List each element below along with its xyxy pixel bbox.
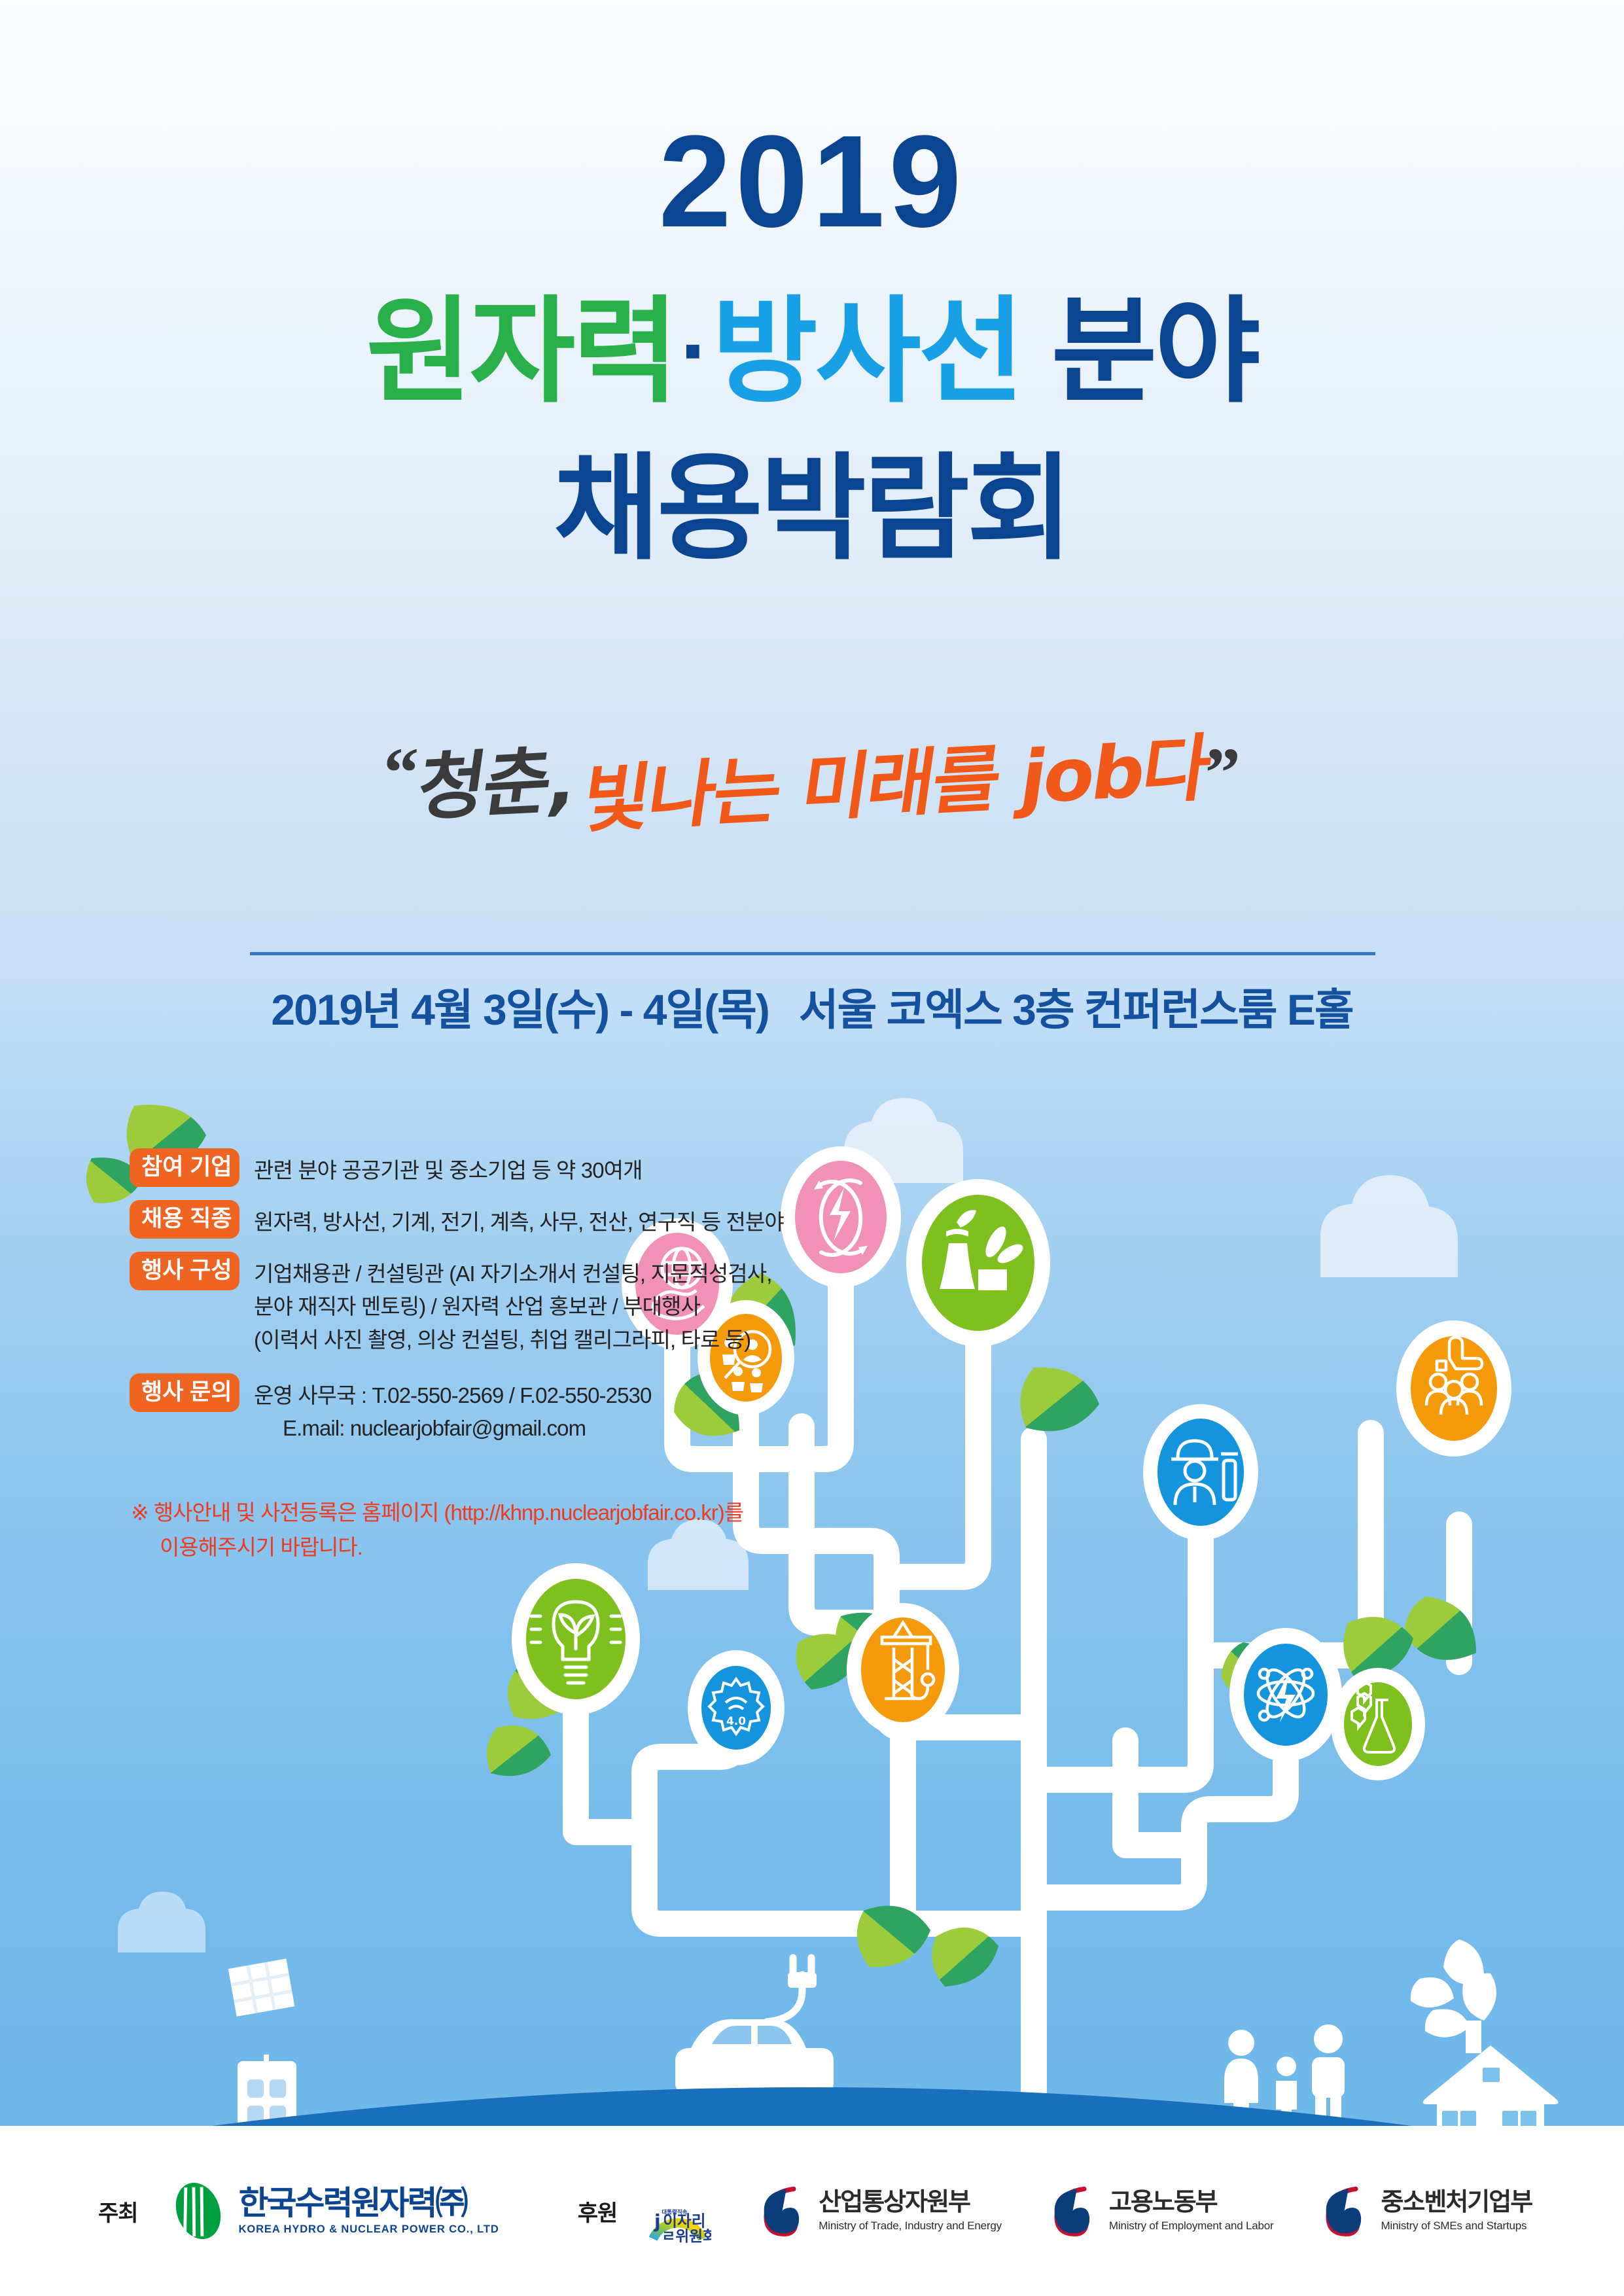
ev-plug-body: [788, 1972, 817, 1988]
motie-name-en: Ministry of Trade, Industry and Energy: [819, 2219, 1002, 2233]
sponsor-logo-moel: 고용노동부 Ministry of Employment and Labor: [1048, 2185, 1274, 2237]
cloud-icon: [1320, 1175, 1458, 1277]
note-line-1: ※ 행사안내 및 사전등록은 홈페이지 (http://khnp.nuclear…: [131, 1500, 743, 1525]
host-label: 주최: [98, 2195, 138, 2227]
icon-node-industry-4-0: 4.0: [688, 1650, 785, 1765]
cloud-icon: [118, 1892, 205, 1952]
mss-name-ko: 중소벤처기업부: [1381, 2190, 1532, 2215]
icon-node-crane: [847, 1603, 959, 1737]
svg-text:ㄹ위원회: ㄹ위원회: [662, 2228, 712, 2245]
info-row-contact: 행사 문의 운영 사무국 : T.02-550-2569 / F.02-550-…: [130, 1373, 954, 1445]
host-name-en: KOREA HYDRO & NUCLEAR POWER CO., LTD: [239, 2223, 499, 2236]
info-badge-contact: 행사 문의: [130, 1373, 239, 1412]
moel-name-en: Ministry of Employment and Labor: [1109, 2219, 1274, 2233]
icon-node-eco-lightbulb: [512, 1563, 640, 1715]
info-badge-participants: 참여 기업: [130, 1148, 239, 1187]
icon-node-flask: [1331, 1668, 1425, 1780]
sponsor-logo-motie: 산업통상자원부 Ministry of Trade, Industry and …: [757, 2185, 1002, 2237]
korea-gov-emblem-icon: [1319, 2185, 1371, 2237]
info-text-contact: 운영 사무국 : T.02-550-2569 / F.02-550-2530 E…: [254, 1373, 651, 1445]
host-logo-khnp: 한국수력원자력㈜ KOREA HYDRO & NUCLEAR POWER CO.…: [167, 2180, 499, 2242]
moel-name-ko: 고용노동부: [1109, 2190, 1274, 2215]
svg-text:4.0: 4.0: [726, 1715, 746, 1728]
info-badge-program: 행사 구성: [130, 1252, 239, 1290]
note-line-2: 이용해주시기 바랍니다.: [131, 1530, 743, 1564]
info-badge-positions: 채용 직종: [130, 1200, 239, 1239]
host-name-ko: 한국수력원자력㈜: [239, 2187, 499, 2219]
info-text-positions: 원자력, 방사선, 기계, 전기, 계측, 사무, 전산, 연구직 등 전분야: [254, 1200, 784, 1239]
korea-gov-emblem-icon: [1048, 2185, 1100, 2237]
svg-text:j: j: [654, 2211, 661, 2233]
motie-name-ko: 산업통상자원부: [819, 2190, 1002, 2215]
khnp-mark-icon: [167, 2180, 230, 2242]
korea-gov-emblem-icon: [757, 2185, 809, 2237]
info-text-participants: 관련 분야 공공기관 및 중소기업 등 약 30여개: [254, 1148, 643, 1187]
registration-note: ※ 행사안내 및 사전등록은 홈페이지 (http://khnp.nuclear…: [131, 1495, 743, 1565]
poster-root: 4.0: [0, 0, 1624, 2296]
info-row-program: 행사 구성 기업채용관 / 컨설팅관 (AI 자기소개서 컨설팅, 지문적성검사…: [130, 1252, 954, 1356]
footer-logos: 주최 한국수력원자력㈜ KOREA HYDRO & NUCLEAR POWER …: [0, 2126, 1624, 2296]
info-text-program: 기업채용관 / 컨설팅관 (AI 자기소개서 컨설팅, 지문적성검사, 분야 재…: [254, 1252, 771, 1356]
sponsor-label: 후원: [578, 2195, 618, 2227]
sponsor-logo-mss: 중소벤처기업부 Ministry of SMEs and Startups: [1319, 2185, 1532, 2237]
house-leaves-icon: [1411, 1939, 1496, 2038]
ev-plug-icon: [767, 1958, 811, 2022]
info-list: 참여 기업 관련 분야 공공기관 및 중소기업 등 약 30여개 채용 직종 원…: [130, 1148, 954, 1458]
info-row-participants: 참여 기업 관련 분야 공공기관 및 중소기업 등 약 30여개: [130, 1148, 954, 1187]
icon-node-teamwork-thumbsup: [1396, 1320, 1511, 1457]
mss-name-en: Ministry of SMEs and Startups: [1381, 2219, 1532, 2233]
sponsor-logo-jobcom: 대통령직속 j 이자리 ㄹ위원회: [643, 2177, 711, 2245]
icon-node-atom-energy: [1229, 1628, 1342, 1761]
icon-node-engineer: [1143, 1404, 1258, 1540]
info-row-positions: 채용 직종 원자력, 방사선, 기계, 전기, 계측, 사무, 전산, 연구직 …: [130, 1200, 954, 1239]
jobcom-mark-icon: 대통령직속 j 이자리 ㄹ위원회: [643, 2177, 711, 2245]
